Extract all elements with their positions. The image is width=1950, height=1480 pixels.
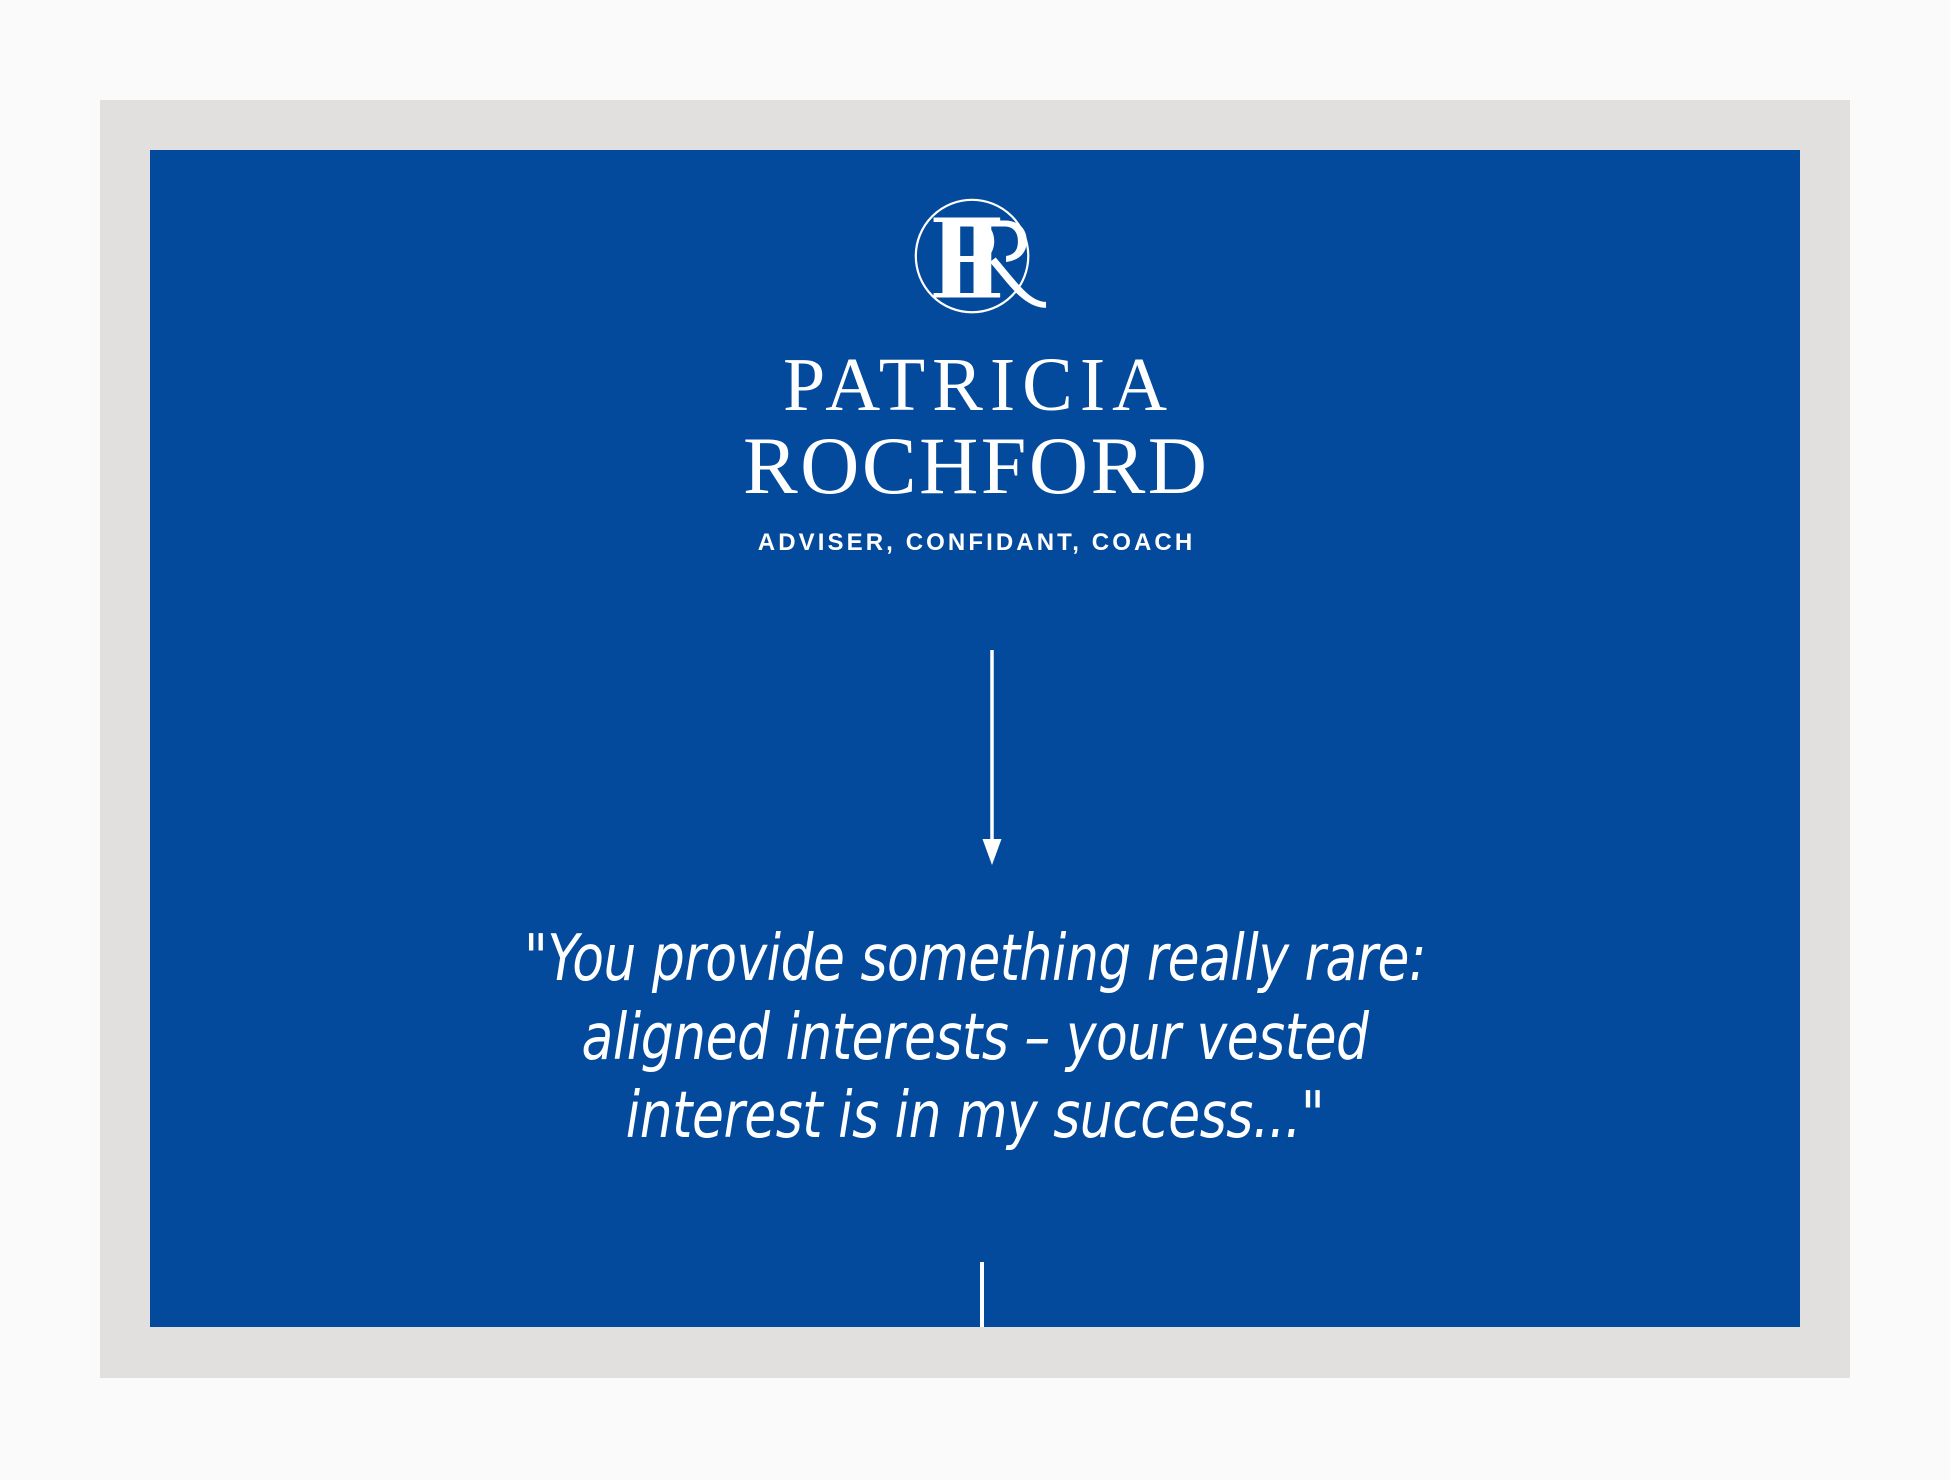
- brand-wordmark: PATRICIA ROCHFORD: [740, 347, 1209, 507]
- testimonial-quote: "You provide something really rare: alig…: [377, 920, 1574, 1156]
- brand-logo-lockup: PATRICIA ROCHFORD ADVISER, CONFIDANT, CO…: [150, 185, 1800, 557]
- wordmark-first-name: PATRICIA: [776, 347, 1174, 423]
- slide-blue-panel: PATRICIA ROCHFORD ADVISER, CONFIDANT, CO…: [150, 150, 1800, 1327]
- quote-line: "You provide something really rare:: [377, 920, 1574, 999]
- pr-monogram-circle-icon: [901, 185, 1049, 333]
- brand-tagline: ADVISER, CONFIDANT, COACH: [755, 529, 1196, 557]
- quote-line: aligned interests – your vested: [377, 999, 1574, 1078]
- wordmark-last-name: ROCHFORD: [740, 425, 1209, 507]
- slide-mat-frame: PATRICIA ROCHFORD ADVISER, CONFIDANT, CO…: [100, 100, 1850, 1378]
- bottom-rule: [980, 1262, 984, 1327]
- quote-line: interest is in my success...": [377, 1077, 1574, 1156]
- down-arrow-icon: [981, 650, 1003, 865]
